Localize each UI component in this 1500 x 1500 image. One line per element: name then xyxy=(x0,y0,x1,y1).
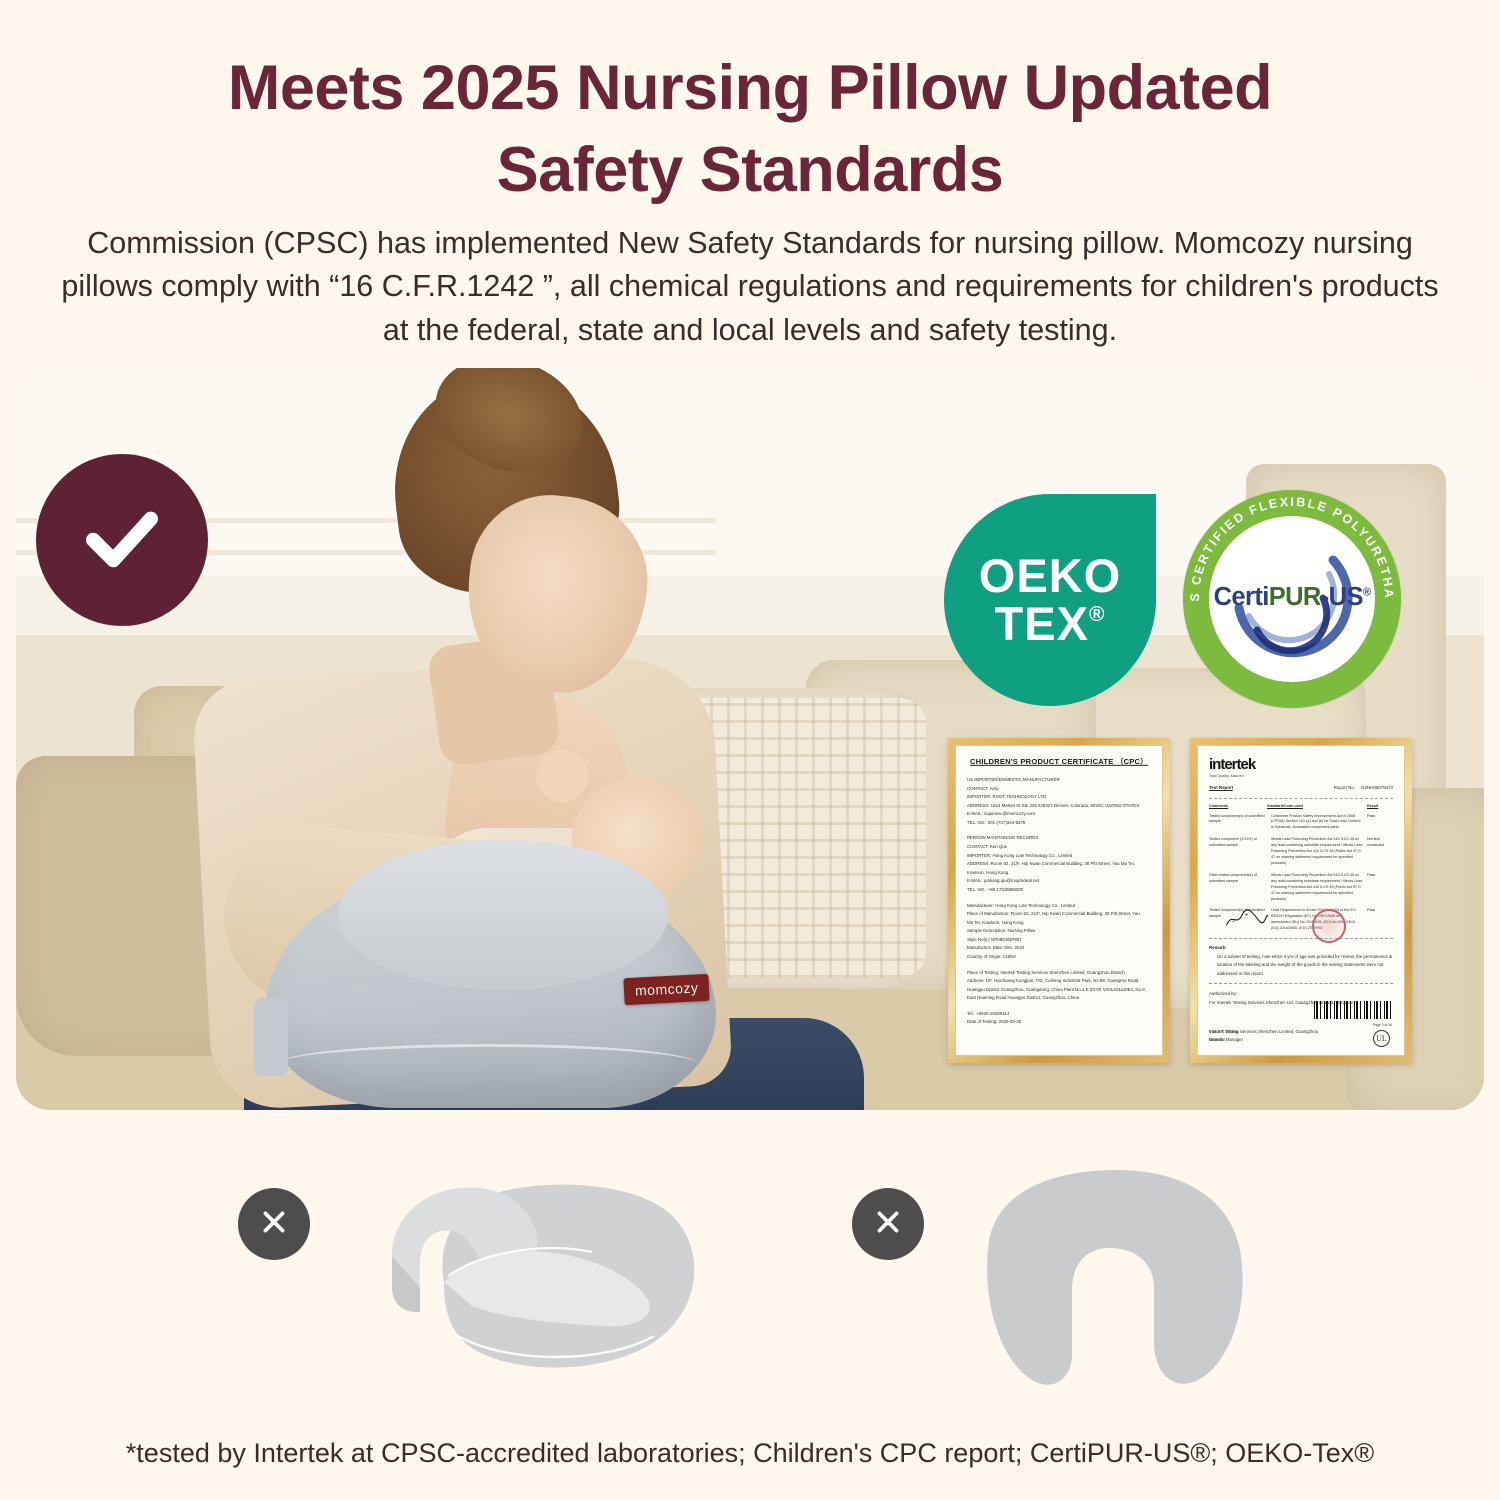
x-badge-right xyxy=(852,1188,924,1260)
intertek-cell-result: Pass xyxy=(1367,873,1393,903)
headline-line-1: Meets 2025 Nursing Pillow Updated xyxy=(0,48,1500,130)
cpc-certificate-image: CHILDREN'S PRODUCT CERTIFICATE （CPC） US … xyxy=(948,738,1170,1063)
headline-line-2: Safety Standards xyxy=(0,130,1500,212)
intertek-report-no-value: GZHH05078473 xyxy=(1361,784,1393,793)
cpc-certificate-line: Ma Tei, Kowloon, Hong Kong xyxy=(967,919,1151,928)
cpc-certificate-line: E-MAIL: junkang.qiu@mojickdeal.net xyxy=(967,877,1151,886)
intertek-col-result: Result xyxy=(1367,804,1393,810)
cpc-certificate-line: Tel.: +8620-25209114 xyxy=(967,1010,1151,1019)
divider xyxy=(1209,938,1393,939)
cpc-certificate-line: CONTACT: Ken Que xyxy=(967,843,1151,852)
x-icon xyxy=(869,1203,907,1246)
intertek-remark-text: On a subset of testing, note when 3 yrs … xyxy=(1209,953,1393,979)
cpc-certificate-line: ADDRESS: 1624 Market St Ste 226 #28327 D… xyxy=(967,802,1151,811)
intertek-report-image: intertek Total Quality. Assured. Test Re… xyxy=(1190,738,1412,1063)
cpc-certificate-line: ADDRESS: Room 02, 21/F, Hip Kwan Commerc… xyxy=(967,860,1151,869)
baby-hand xyxy=(536,750,588,802)
c-shaped-pillow-silhouette xyxy=(348,1160,708,1390)
intertek-authorized-label: Authorized by: xyxy=(1209,990,1393,999)
barcode-icon xyxy=(1314,1001,1392,1019)
intertek-page-label: Page 3 of 16 xyxy=(1373,1023,1392,1027)
x-icon xyxy=(255,1203,293,1246)
subcopy-paragraph: Commission (CPSC) has implemented New Sa… xyxy=(55,222,1445,352)
intertek-cell-standard: Illinois Lead Poisoning Prevention Act 4… xyxy=(1271,837,1363,867)
oeko-tex-word: TEX xyxy=(995,600,1089,648)
intertek-verify-text: Should you have any query on this report… xyxy=(1209,1055,1393,1056)
cpc-certificate-line: Place of Testing: Intertek Testing Servi… xyxy=(967,969,1151,978)
intertek-report-page: intertek Total Quality. Assured. Test Re… xyxy=(1197,745,1405,1056)
company-seal-icon xyxy=(1312,909,1346,943)
cpc-certificate-line: Place of Manufacture: Room 02, 21/F, Hip… xyxy=(967,910,1151,919)
intertek-table-row: Tested component(s) of submitted sampleC… xyxy=(1209,814,1393,832)
intertek-footer-org: Intertek Testing Services Shenzhen Limit… xyxy=(1209,1028,1329,1045)
certipur-wordmark: CertiPUR-US® xyxy=(1183,583,1401,612)
brand-tag: momcozy xyxy=(623,974,710,1005)
certipur-word-pur: PUR xyxy=(1269,583,1321,611)
cpc-certificate-line: Sample Description: Nursing Pillow xyxy=(967,927,1151,936)
marketing-infographic: Meets 2025 Nursing Pillow Updated Safety… xyxy=(0,0,1500,1500)
nursing-pillow-top xyxy=(338,840,668,990)
cpc-certificate-line: PERSON MAINTAINING RECORDS xyxy=(967,834,1151,843)
footnote: *tested by Intertek at CPSC-accredited l… xyxy=(50,1438,1450,1469)
oeko-tex-line-2: TEX ® xyxy=(995,600,1106,648)
intertek-cell-standard: Illinois Lead Poisoning Prevention Act 4… xyxy=(1271,873,1363,903)
intertek-cell-component: Other tested component(s) of submitted s… xyxy=(1209,873,1267,903)
cpc-certificate-line: IMPORTER: ROOT TECHNOLOGY LTD. xyxy=(967,793,1151,802)
cpc-certificate-page: CHILDREN'S PRODUCT CERTIFICATE （CPC） US … xyxy=(955,745,1163,1056)
intertek-cell-component: Tested component (2/11/9) of submitted s… xyxy=(1209,837,1267,867)
oeko-tex-badge: OEKO TEX ® xyxy=(944,494,1156,706)
spacer xyxy=(967,895,1151,902)
cpc-certificate-line: Style No(s): NP0804/NP907 xyxy=(967,936,1151,945)
intertek-cell-component: Tested component(s) of submitted sample xyxy=(1209,814,1267,832)
intertek-tagline: Total Quality. Assured. xyxy=(1209,774,1393,778)
intertek-table-row: Tested component (2/11/9) of submitted s… xyxy=(1209,837,1393,867)
u-shaped-pillow-silhouette xyxy=(930,1158,1260,1398)
intertek-cell-result: Not test conducted xyxy=(1367,837,1393,867)
intertek-remark-label: Remark: xyxy=(1209,944,1393,953)
intertek-cell-standard: Consumer Product Safety Improvement Act … xyxy=(1271,814,1363,832)
intertek-col-standard: Standard/Code used xyxy=(1267,804,1367,810)
spacer xyxy=(967,962,1151,969)
cpc-certificate-line: US IMPORTER/DOMESTIC MANUFACTURER xyxy=(967,776,1151,785)
registered-mark-icon: ® xyxy=(1089,604,1105,625)
intertek-cell-result: Pass xyxy=(1367,908,1393,932)
certipur-us-badge: CONTAINS CERTIFIED FLEXIBLE POLYURETHANE… xyxy=(1183,490,1401,708)
certipur-word-us: -US xyxy=(1321,583,1363,611)
cpc-certificate-line: TEL. NO.: 001-(737)344-6278 xyxy=(967,819,1151,828)
intertek-table-row: Other tested component(s) of submitted s… xyxy=(1209,873,1393,903)
check-icon xyxy=(74,490,170,591)
cpc-certificate-line: Manufacture Date: Dec. 2024 xyxy=(967,944,1151,953)
cpc-certificate-line: Country of Origin: CHINA xyxy=(967,953,1151,962)
nursing-pillow-seam xyxy=(278,1044,698,1084)
cpc-certificate-title: CHILDREN'S PRODUCT CERTIFICATE （CPC） xyxy=(967,756,1151,766)
oeko-tex-line-1: OEKO xyxy=(979,552,1121,600)
spacer xyxy=(967,1003,1151,1010)
cpc-certificate-body: US IMPORTER/DOMESTIC MANUFACTURERCONTACT… xyxy=(967,776,1151,1027)
intertek-cell-result: Pass xyxy=(1367,814,1393,832)
ul-certification-icon: UL xyxy=(1373,1030,1390,1047)
cpc-certificate-line: E-MAIL: inquiriesc@momcozy.com xyxy=(967,810,1151,819)
registered-mark-icon: ® xyxy=(1363,587,1371,599)
intertek-report-no-label: Report No. xyxy=(1334,784,1355,793)
cpc-certificate-line: East Huaming Road Huangpu District, Guan… xyxy=(967,994,1151,1003)
cpc-certificate-line: Date of Testing: 2025-03-28 xyxy=(967,1018,1151,1027)
spacer xyxy=(967,827,1151,834)
x-badge-left xyxy=(238,1188,310,1260)
intertek-logo: intertek xyxy=(1209,756,1393,773)
check-badge xyxy=(36,454,208,626)
cpc-certificate-line: CONTACT: Amy xyxy=(967,785,1151,794)
cpc-certificate-line: Kowloon, Hong Kong xyxy=(967,869,1151,878)
divider xyxy=(1209,983,1393,984)
nursing-pillow-tab xyxy=(254,998,288,1076)
certipur-word-certi: Certi xyxy=(1214,583,1269,611)
intertek-table-header: Comments Standard/Code used Result xyxy=(1209,804,1393,810)
cpc-certificate-line: TEL. NO.: +86 17318886030 xyxy=(967,886,1151,895)
cpc-certificate-line: IMPORTER: Hong Kong Lute Technology Co.,… xyxy=(967,852,1151,861)
cpc-certificate-line: Manufacturer: Hong Kong Lute Technology … xyxy=(967,902,1151,911)
cpc-certificate-line: Huangpu District Guangzhou, Guangdong, C… xyxy=(967,986,1151,995)
divider xyxy=(1209,798,1393,799)
intertek-col-comments: Comments xyxy=(1209,804,1267,810)
cpc-certificate-line: Address: 1/F, Huichuang Kongjian, T/D, C… xyxy=(967,977,1151,986)
intertek-doc-type: Test Report xyxy=(1209,784,1233,793)
page-title: Meets 2025 Nursing Pillow Updated Safety… xyxy=(0,48,1500,212)
